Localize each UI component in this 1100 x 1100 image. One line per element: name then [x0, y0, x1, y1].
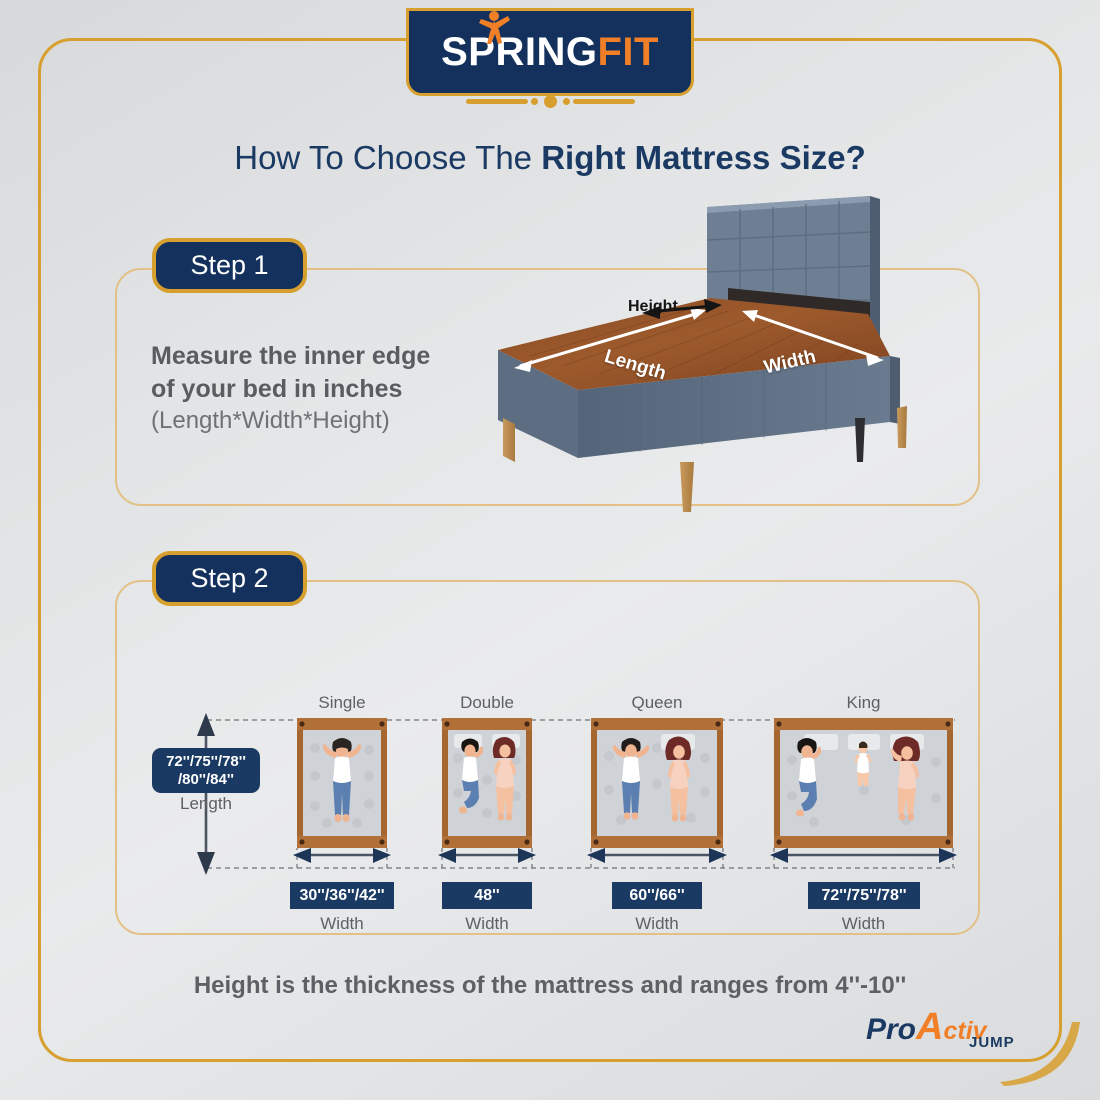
- page-title: How To Choose The Right Mattress Size?: [0, 139, 1100, 177]
- length-badge-line-1: 72''/75''/78'': [166, 753, 246, 770]
- step-1-badge: Step 1: [152, 238, 307, 293]
- step-1-line-3: (Length*Width*Height): [151, 405, 481, 436]
- bed-height-label: Height: [628, 298, 678, 316]
- proactiv-pro-text: Pro: [866, 1013, 916, 1046]
- size-name-queen: Queen: [591, 693, 723, 713]
- length-dimension-label: Length: [152, 794, 260, 814]
- page-title-light: How To Choose The: [234, 139, 541, 176]
- width-badge-single: 30''/36''/42'': [290, 882, 394, 909]
- width-badge-king: 72''/75''/78'': [808, 882, 920, 909]
- length-dimension-badge: 72''/75''/78'' /80''/84'': [152, 748, 260, 793]
- size-name-double: Double: [442, 693, 532, 713]
- bed-illustration: [470, 190, 990, 530]
- step-2-badge: Step 2: [152, 551, 307, 606]
- step-1-line-2: of your bed in inches: [151, 373, 481, 406]
- step-1-instructions: Measure the inner edge of your bed in in…: [151, 340, 481, 436]
- logo-divider-ornament: [440, 94, 660, 108]
- logo-fit-text: FIT: [597, 30, 658, 75]
- bed-diagram-queen: [591, 718, 723, 848]
- divider-dot-small-right: [563, 98, 570, 105]
- footer-height-note: Height is the thickness of the mattress …: [0, 972, 1100, 1000]
- proactiv-jump-logo: ProActiv JUMP: [866, 1008, 1041, 1056]
- divider-dot-large: [544, 95, 557, 108]
- width-label-double: Width: [442, 914, 532, 934]
- page-title-bold: Right Mattress Size?: [541, 139, 866, 176]
- size-name-single: Single: [297, 693, 387, 713]
- width-label-single: Width: [290, 914, 394, 934]
- logo-spring-text: SPRING: [441, 30, 597, 75]
- divider-bar-right: [573, 99, 635, 104]
- brand-logo-banner: SPRING FIT: [406, 8, 694, 96]
- divider-bar-left: [466, 99, 528, 104]
- width-label-queen: Width: [591, 914, 723, 934]
- proactiv-jump-text: JUMP: [969, 1034, 1015, 1051]
- mattress-size-comparison: 72''/75''/78'' /80''/84'' Length Single: [115, 580, 980, 935]
- bed-diagram-single: [297, 718, 387, 848]
- bed-diagram-double: [442, 718, 532, 848]
- width-label-king: Width: [774, 914, 953, 934]
- bed-diagram-king: [774, 718, 953, 848]
- springfit-logo: SPRING FIT: [441, 30, 659, 75]
- divider-dot-small-left: [531, 98, 538, 105]
- width-badge-double: 48'': [442, 882, 532, 909]
- size-name-king: King: [774, 693, 953, 713]
- step-1-line-1: Measure the inner edge: [151, 340, 481, 373]
- width-arrows: [293, 848, 957, 868]
- proactiv-a-text: A: [916, 1006, 943, 1048]
- jumping-figure-icon: [477, 10, 511, 50]
- width-badge-queen: 60''/66'': [612, 882, 702, 909]
- length-badge-line-2: /80''/84'': [178, 771, 234, 788]
